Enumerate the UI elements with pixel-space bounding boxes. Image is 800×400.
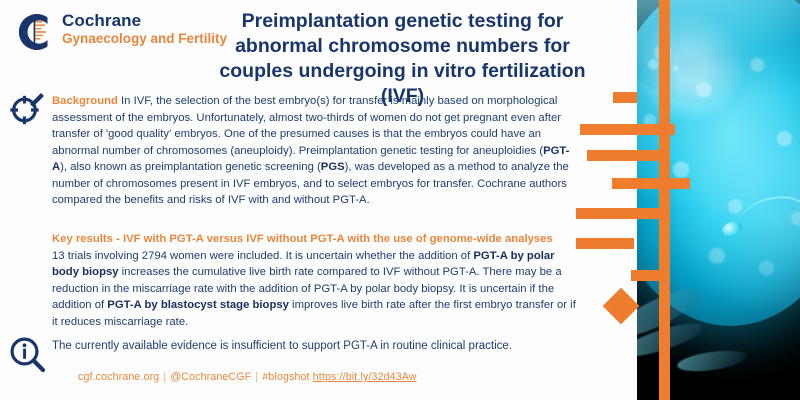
forest-bar — [613, 92, 637, 103]
footer-separator: | — [162, 371, 167, 383]
footer-link[interactable]: https://bit.ly/32d43Aw — [313, 371, 417, 383]
footer-separator: | — [254, 371, 259, 383]
bubble-icon — [663, 56, 670, 63]
key-results-text-1: 13 trials involving 2794 women were incl… — [52, 250, 473, 262]
zona-pellucida-highlight — [637, 0, 800, 110]
cochrane-logo-icon — [14, 10, 58, 54]
brand-lockup: Cochrane Gynaecology and Fertility — [62, 12, 227, 46]
brand-name: Cochrane — [62, 12, 227, 30]
conclusion-text: The currently available evidence is insu… — [52, 338, 580, 355]
key-results-term-blastocyst: PGT-A by blastocyst stage biopsy — [107, 299, 289, 311]
background-text-2: ), also known as preimplantation genetic… — [60, 161, 321, 173]
key-results-lead: Key results - IVF with PGT-A versus IVF … — [52, 233, 553, 245]
key-results-paragraph: Key results - IVF with PGT-A versus IVF … — [52, 231, 580, 330]
bubble-icon — [649, 60, 658, 69]
footer-hashtag[interactable]: #blogshot — [262, 371, 309, 383]
footer-handle[interactable]: @CochraneCGF — [170, 371, 251, 383]
bubble-icon — [673, 66, 678, 71]
background-text-1: In IVF, the selection of the best embryo… — [52, 95, 561, 157]
blogshot-poster: Cochrane Gynaecology and Fertility Preim… — [0, 0, 800, 400]
target-needle-icon — [8, 89, 46, 127]
footer-website[interactable]: cgf.cochrane.org — [78, 371, 159, 383]
sperm-silhouette — [676, 347, 748, 375]
forest-bar — [576, 238, 634, 249]
background-term-pgs: PGS — [321, 161, 345, 173]
background-paragraph: Background In IVF, the selection of the … — [52, 93, 580, 209]
embryo-photo — [637, 0, 800, 400]
info-magnifier-icon — [8, 335, 46, 373]
brand-group: Gynaecology and Fertility — [62, 31, 227, 47]
forest-diamond-marker — [603, 288, 640, 325]
footer-bar: cgf.cochrane.org | @CochraneCGF | #blogs… — [78, 371, 578, 383]
background-lead: Background — [52, 95, 118, 107]
